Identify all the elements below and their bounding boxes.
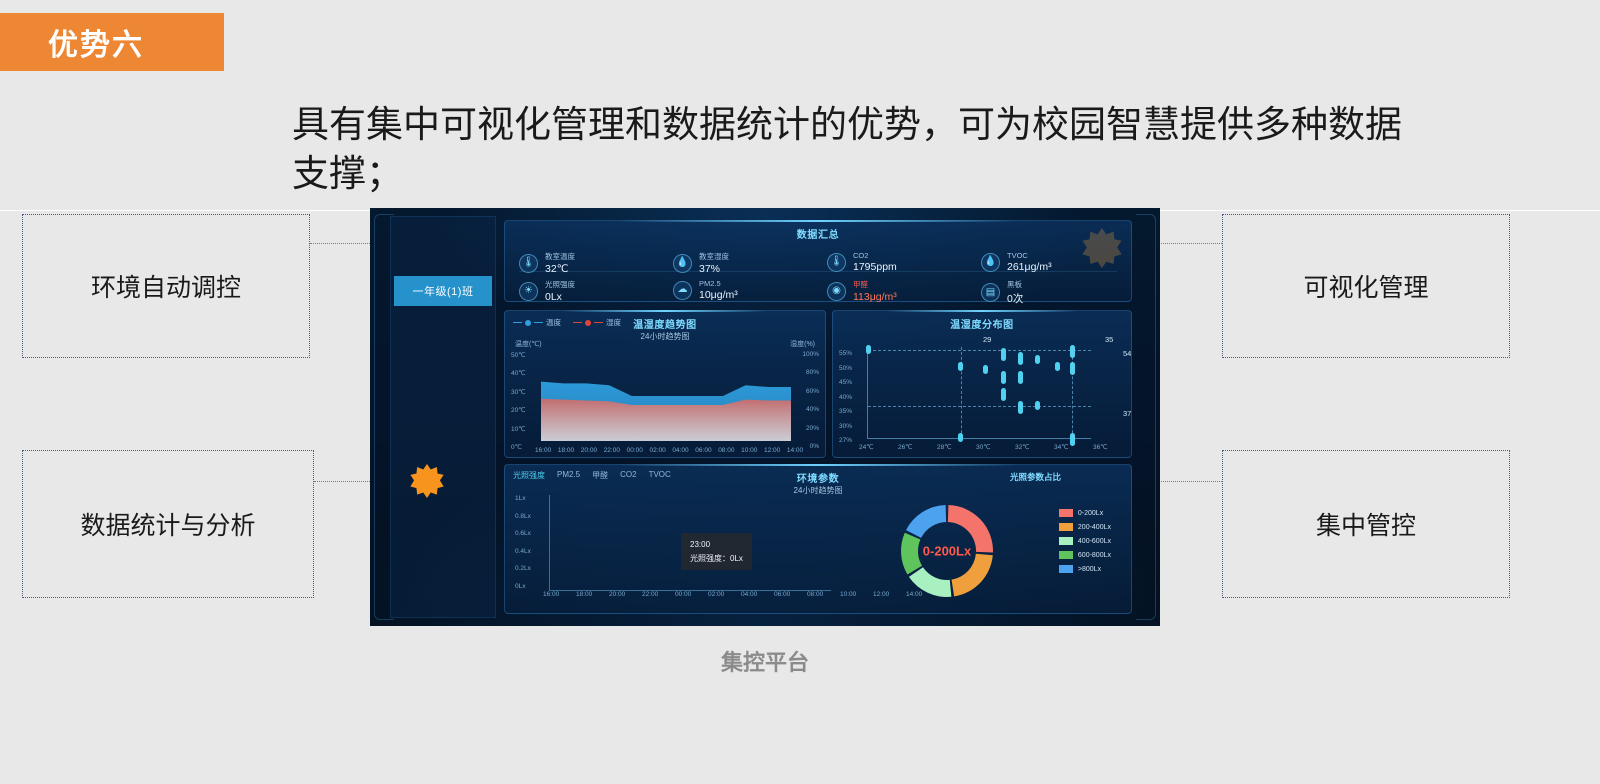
metric-教室湿度: 💧教室湿度37% [673, 251, 729, 275]
metric-光照强度: ☀光照强度0Lx [519, 279, 575, 303]
metric-TVOC: 💧TVOC261μg/m³ [981, 251, 1052, 273]
trend-y2-tick: 80% [806, 369, 819, 376]
metric-教室温度: 🌡教室温度32℃ [519, 251, 575, 275]
trend-x-tick: 22:00 [604, 447, 620, 454]
frame-edge-right [1136, 214, 1156, 620]
env-tab-TVOC[interactable]: TVOC [649, 470, 671, 481]
metric-label: 黑板 [1007, 279, 1023, 290]
data-summary-panel: 数据汇总 🌡教室温度32℃💧教室湿度37%🌡CO21795ppm💧TVOC261… [504, 220, 1132, 302]
control-platform-dashboard: 一年级(1)班 数据汇总 🌡教室温度32℃💧教室湿度37%🌡CO21795ppm… [370, 208, 1160, 626]
trend-y2-tick: 40% [806, 406, 819, 413]
trend-x-tick: 18:00 [558, 447, 574, 454]
callout-label: 可视化管理 [1303, 268, 1428, 304]
scatter-guide-line [961, 347, 962, 438]
metric-label: TVOC [1007, 251, 1052, 260]
trend-x-tick: 10:00 [741, 447, 757, 454]
metric-甲醛: ◉甲醛113μg/m³ [827, 279, 897, 303]
trend-y-tick: 30℃ [511, 388, 526, 396]
trend-y-tick: 0℃ [511, 443, 522, 451]
trend-y-tick: 50℃ [511, 351, 526, 359]
env-x-tick: 22:00 [642, 591, 658, 598]
env-tooltip: 23:00 光照强度：0Lx [681, 533, 752, 570]
scatter-annotation-29: 29 [983, 335, 991, 344]
legend-line-icon [513, 322, 522, 323]
trend-x-tick: 00:00 [627, 447, 643, 454]
metric-CO2: 🌡CO21795ppm [827, 251, 897, 273]
callout-data-statistics: 数据统计与分析 [22, 450, 314, 598]
scatter-y-tick: 35% [839, 408, 852, 415]
formaldehyde-icon: ◉ [827, 282, 846, 301]
legend-item-temperature[interactable]: 温度 [513, 317, 561, 328]
metric-label: PM2.5 [699, 279, 738, 288]
scatter-y-tick: 27% [839, 437, 852, 444]
trend-y2-tick: 20% [806, 425, 819, 432]
scatter-x-tick: 34℃ [1054, 443, 1069, 451]
environment-parameter-panel: 环境参数 24小时趋势图 光照强度PM2.5甲醛CO2TVOC 0Lx0.2Lx… [504, 464, 1132, 614]
scatter-x-tick: 28℃ [937, 443, 952, 451]
scatter-y-tick: 45% [839, 379, 852, 386]
advantage-badge: 优势六 [0, 13, 224, 71]
env-x-tick: 00:00 [675, 591, 691, 598]
scatter-y-tick: 40% [839, 394, 852, 401]
scatter-point [983, 365, 988, 374]
metric-value: 261μg/m³ [1007, 261, 1052, 273]
legend-swatch-icon [1059, 509, 1073, 517]
trend-y-tick: 20℃ [511, 406, 526, 414]
env-x-tick: 06:00 [774, 591, 790, 598]
env-tab-CO2[interactable]: CO2 [620, 470, 636, 481]
scatter-point [1055, 362, 1060, 371]
env-y-tick: 0.2Lx [515, 565, 531, 572]
legend-line-icon [534, 322, 543, 323]
scatter-guide-line [868, 406, 1091, 407]
scatter-x-tick: 36℃ [1093, 443, 1108, 451]
trend-y2-tick: 0% [810, 443, 819, 450]
callout-label: 环境自动调控 [91, 268, 241, 304]
metric-value: 113μg/m³ [853, 291, 897, 303]
trend-x-tick: 14:00 [787, 447, 803, 454]
scatter-point [1018, 352, 1023, 365]
trend-y2-tick: 60% [806, 388, 819, 395]
tooltip-value: 光照强度：0Lx [690, 552, 743, 566]
blackboard-icon: ▤ [981, 283, 1000, 302]
env-x-tick: 20:00 [609, 591, 625, 598]
metric-label: 光照强度 [545, 279, 575, 290]
scatter-y-tick: 55% [839, 350, 852, 357]
metric-value: 1795ppm [853, 261, 897, 273]
trend-legend: 温度 湿度 [513, 317, 621, 328]
env-tab-PM2.5[interactable]: PM2.5 [557, 470, 580, 481]
trend-y-tick: 40℃ [511, 369, 526, 377]
donut-legend-item-600-800Lx[interactable]: 600-800Lx [1059, 551, 1111, 559]
trend-x-tick: 16:00 [535, 447, 551, 454]
donut-legend-item-200-400Lx[interactable]: 200-400Lx [1059, 523, 1111, 531]
env-y-tick: 0.8Lx [515, 513, 531, 520]
metric-PM2.5: ☁PM2.510μg/m³ [673, 279, 738, 301]
legend-label: 温度 [546, 317, 561, 328]
data-summary-title: 数据汇总 [505, 226, 1131, 241]
env-x-tick: 18:00 [576, 591, 592, 598]
callout-label: 数据统计与分析 [80, 506, 255, 542]
temp-humidity-trend-panel: 温湿度趋势图 24小时趋势图 温度 湿度 温度(℃) 湿度(%) [504, 310, 826, 458]
trend-x-tick: 04:00 [672, 447, 688, 454]
metric-value: 0次 [1007, 291, 1023, 306]
sidebar-item-class[interactable]: 一年级(1)班 [394, 276, 492, 306]
metric-label: 教室湿度 [699, 251, 729, 262]
trend-subtitle: 24小时趋势图 [505, 331, 825, 342]
metric-value: 10μg/m³ [699, 289, 738, 301]
env-tab-bar: 光照强度PM2.5甲醛CO2TVOC [513, 470, 671, 481]
sun-icon: ☀ [519, 282, 538, 301]
legend-swatch-icon [1059, 537, 1073, 545]
env-y-tick: 0.6Lx [515, 530, 531, 537]
metric-value: 0Lx [545, 291, 575, 303]
trend-x-tick: 20:00 [581, 447, 597, 454]
scatter-point [1018, 401, 1023, 414]
scatter-y-tick: 30% [839, 423, 852, 430]
donut-legend: 0-200Lx200-400Lx400-600Lx600-800Lx>800Lx [1059, 509, 1111, 573]
donut-legend-item-0-200Lx[interactable]: 0-200Lx [1059, 509, 1111, 517]
env-x-tick: 02:00 [708, 591, 724, 598]
env-x-tick: 08:00 [807, 591, 823, 598]
scatter-x-tick: 32℃ [1015, 443, 1030, 451]
legend-swatch-icon [1059, 523, 1073, 531]
legend-swatch-icon [1059, 551, 1073, 559]
metric-value: 32℃ [545, 263, 575, 275]
metric-黑板: ▤黑板0次 [981, 279, 1023, 306]
tvoc-icon: 💧 [981, 253, 1000, 272]
class-button-label: 一年级(1)班 [413, 283, 474, 299]
scatter-x-tick: 30℃ [976, 443, 991, 451]
legend-dot-icon [585, 320, 591, 326]
donut-legend-item->800Lx[interactable]: >800Lx [1059, 565, 1111, 573]
env-y-tick: 0Lx [515, 583, 525, 590]
env-x-tick: 12:00 [873, 591, 889, 598]
scatter-point [1001, 371, 1006, 384]
metric-label: CO2 [853, 251, 897, 260]
trend-y2-tick: 100% [802, 351, 819, 358]
env-tab-甲醛[interactable]: 甲醛 [592, 470, 608, 481]
env-x-tick: 16:00 [543, 591, 559, 598]
donut-center-label: 0-200Lx [923, 544, 971, 559]
donut-legend-item-400-600Lx[interactable]: 400-600Lx [1059, 537, 1111, 545]
trend-x-tick: 02:00 [650, 447, 666, 454]
metric-value: 37% [699, 263, 729, 275]
trend-x-tick: 06:00 [695, 447, 711, 454]
scatter-point [1001, 388, 1006, 401]
donut-title: 光照参数占比 [1010, 471, 1061, 483]
env-y-tick: 1Lx [515, 495, 525, 502]
scatter-annotation-54: 54 [1123, 349, 1131, 358]
legend-line-icon [594, 322, 603, 323]
env-y-tick: 0.4Lx [515, 548, 531, 555]
scatter-y-tick: 50% [839, 365, 852, 372]
scatter-title: 温湿度分布图 [833, 316, 1131, 331]
callout-visual-management: 可视化管理 [1222, 214, 1510, 358]
env-x-tick: 10:00 [840, 591, 856, 598]
scatter-annotation-35: 35 [1105, 335, 1113, 344]
scatter-annotation-37: 37 [1123, 409, 1131, 418]
trend-y-tick: 10℃ [511, 425, 526, 433]
legend-dot-icon [525, 320, 531, 326]
trend-svg [541, 351, 791, 441]
thermometer-icon: 🌡 [519, 254, 538, 273]
legend-item-humidity[interactable]: 湿度 [573, 317, 621, 328]
legend-swatch-icon [1059, 565, 1073, 573]
pm25-icon: ☁ [673, 281, 692, 300]
legend-label: 200-400Lx [1078, 524, 1111, 531]
callout-label: 集中管控 [1316, 506, 1416, 542]
callout-centralized-control: 集中管控 [1222, 450, 1510, 598]
legend-line-icon [573, 322, 582, 323]
co2-icon: 🌡 [827, 253, 846, 272]
callout-environment-auto-control: 环境自动调控 [22, 214, 310, 358]
trend-y-left-caption: 温度(℃) [515, 339, 542, 349]
legend-label: 0-200Lx [1078, 510, 1103, 517]
env-tab-光照强度[interactable]: 光照强度 [513, 470, 545, 481]
legend-label: 湿度 [606, 317, 621, 328]
advantage-badge-label: 优势六 [48, 20, 144, 64]
scatter-point [1035, 355, 1040, 364]
scatter-x-tick: 24℃ [859, 443, 874, 451]
tooltip-time: 23:00 [690, 538, 743, 552]
page-title: 具有集中可视化管理和数据统计的优势，可为校园智慧提供多种数据支撑； [292, 100, 1422, 198]
metric-label: 甲醛 [853, 279, 897, 290]
scatter-guide-line [868, 350, 1091, 351]
trend-x-tick: 08:00 [718, 447, 734, 454]
legend-label: 400-600Lx [1078, 538, 1111, 545]
legend-label: 600-800Lx [1078, 552, 1111, 559]
dashboard-caption: 集控平台 [370, 645, 1160, 677]
trend-x-tick: 12:00 [764, 447, 780, 454]
legend-label: >800Lx [1078, 566, 1101, 573]
humidity-icon: 💧 [673, 254, 692, 273]
trend-y-right-caption: 湿度(%) [790, 339, 815, 349]
temp-humidity-distribution-panel: 温湿度分布图 27%30%35%40%45%50%55%24℃26℃28℃30℃… [832, 310, 1132, 458]
metric-label: 教室温度 [545, 251, 575, 262]
scatter-guide-line [1072, 347, 1073, 438]
env-x-tick: 04:00 [741, 591, 757, 598]
scatter-x-tick: 26℃ [898, 443, 913, 451]
scatter-point [1018, 371, 1023, 384]
